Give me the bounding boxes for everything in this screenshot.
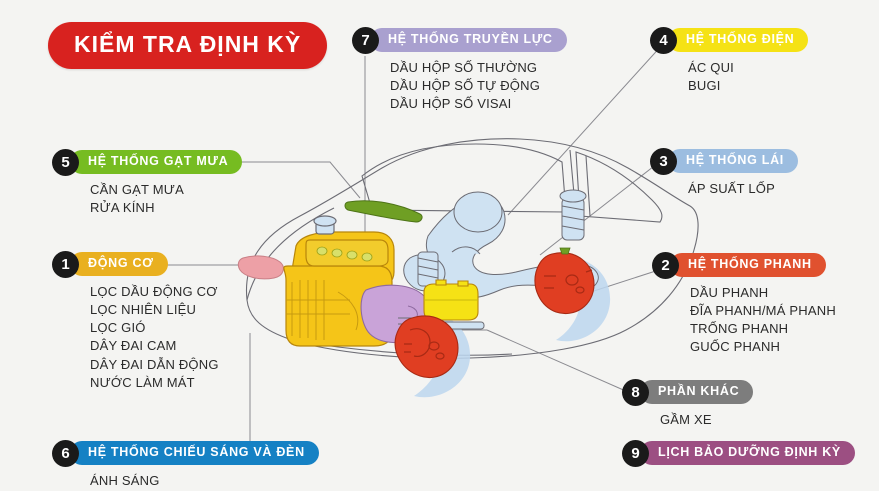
list-item: GẦM XE <box>660 410 753 428</box>
callout-head: 5 HỆ THỐNG GẠT MƯA <box>52 149 242 175</box>
callout-item-list: CẦN GẠT MƯA RỬA KÍNH <box>90 180 242 217</box>
callout-head: 1 ĐỘNG CƠ <box>52 251 219 277</box>
callout-number-badge: 2 <box>652 252 679 279</box>
callout-number-badge: 5 <box>52 149 79 176</box>
callout-item-list: ÁC QUI BUGI <box>688 58 808 95</box>
callout-label-pill[interactable]: HỆ THỐNG PHANH <box>670 253 826 276</box>
list-item: DÂY ĐAI CAM <box>90 337 219 355</box>
callout-item-list: DẦU PHANH ĐĨA PHANH/MÁ PHANH TRỐNG PHANH… <box>690 283 836 356</box>
list-item: DẦU PHANH <box>690 283 836 301</box>
callout-number-badge: 7 <box>352 27 379 54</box>
callout-label-pill[interactable]: HỆ THỐNG GẠT MƯA <box>70 150 242 173</box>
callout-9-maintenance-schedule[interactable]: 9 LỊCH BẢO DƯỠNG ĐỊNH KỲ <box>622 440 855 466</box>
callout-label-pill[interactable]: LỊCH BẢO DƯỠNG ĐỊNH KỲ <box>640 441 855 464</box>
list-item: BUGI <box>688 76 808 94</box>
list-item: ÁNH SÁNG <box>90 471 319 489</box>
callout-2-brakes[interactable]: 2 HỆ THỐNG PHANH DẦU PHANH ĐĨA PHANH/MÁ … <box>652 252 836 356</box>
callout-number-badge: 8 <box>622 379 649 406</box>
callout-label-pill[interactable]: PHẦN KHÁC <box>640 380 753 403</box>
list-item: DẦU HỘP SỐ TỰ ĐỘNG <box>390 76 567 94</box>
callout-head: 9 LỊCH BẢO DƯỠNG ĐỊNH KỲ <box>622 440 855 466</box>
callout-label-pill[interactable]: ĐỘNG CƠ <box>70 252 168 275</box>
list-item: NƯỚC LÀM MÁT <box>90 373 219 391</box>
infographic-canvas: KIỂM TRA ĐỊNH KỲ 7 HỆ THỐNG TRUYỀN LỰC D… <box>0 0 879 491</box>
list-item: DẦU HỘP SỐ THƯỜNG <box>390 58 567 76</box>
callout-item-list: GẦM XE <box>660 410 753 428</box>
callout-head: 2 HỆ THỐNG PHANH <box>652 252 836 278</box>
callout-8-other[interactable]: 8 PHẦN KHÁC GẦM XE <box>622 379 753 428</box>
callout-label-pill[interactable]: HỆ THỐNG TRUYỀN LỰC <box>370 28 567 51</box>
callout-3-steering[interactable]: 3 HỆ THỐNG LÁI ÁP SUẤT LỐP <box>650 148 798 197</box>
callout-number-badge: 9 <box>622 440 649 467</box>
list-item: ĐĨA PHANH/MÁ PHANH <box>690 301 836 319</box>
callout-label-pill[interactable]: HỆ THỐNG CHIẾU SÁNG VÀ ĐÈN <box>70 441 319 464</box>
list-item: LỌC DẦU ĐỘNG CƠ <box>90 282 219 300</box>
callout-number-badge: 1 <box>52 251 79 278</box>
list-item: LỌC GIÓ <box>90 319 219 337</box>
page-title: KIỂM TRA ĐỊNH KỲ <box>48 22 327 69</box>
list-item: GUỐC PHANH <box>690 338 836 356</box>
callout-head: 8 PHẦN KHÁC <box>622 379 753 405</box>
callout-number-badge: 6 <box>52 440 79 467</box>
callout-4-electrical[interactable]: 4 HỆ THỐNG ĐIỆN ÁC QUI BUGI <box>650 27 808 95</box>
callout-item-list: LỌC DẦU ĐỘNG CƠ LỌC NHIÊN LIỆU LỌC GIÓ D… <box>90 282 219 392</box>
callout-head: 4 HỆ THỐNG ĐIỆN <box>650 27 808 53</box>
list-item: ÁP SUẤT LỐP <box>688 179 798 197</box>
callout-6-lighting[interactable]: 6 HỆ THỐNG CHIẾU SÁNG VÀ ĐÈN ÁNH SÁNG <box>52 440 319 489</box>
callout-label-pill[interactable]: HỆ THỐNG LÁI <box>668 149 798 172</box>
list-item: TRỐNG PHANH <box>690 320 836 338</box>
list-item: DẦU HỘP SỐ VISAI <box>390 95 567 113</box>
callout-item-list: ÁNH SÁNG <box>90 471 319 489</box>
callout-7-transmission[interactable]: 7 HỆ THỐNG TRUYỀN LỰC DẦU HỘP SỐ THƯỜNG … <box>352 27 567 113</box>
list-item: DÂY ĐAI DẪN ĐỘNG <box>90 355 219 373</box>
callout-head: 6 HỆ THỐNG CHIẾU SÁNG VÀ ĐÈN <box>52 440 319 466</box>
callout-number-badge: 3 <box>650 148 677 175</box>
list-item: LỌC NHIÊN LIỆU <box>90 300 219 318</box>
callout-number-badge: 4 <box>650 27 677 54</box>
callout-5-wiper[interactable]: 5 HỆ THỐNG GẠT MƯA CẦN GẠT MƯA RỬA KÍNH <box>52 149 242 217</box>
list-item: RỬA KÍNH <box>90 198 242 216</box>
callout-head: 7 HỆ THỐNG TRUYỀN LỰC <box>352 27 567 53</box>
callout-label-pill[interactable]: HỆ THỐNG ĐIỆN <box>668 28 808 51</box>
callout-head: 3 HỆ THỐNG LÁI <box>650 148 798 174</box>
callout-1-engine[interactable]: 1 ĐỘNG CƠ LỌC DẦU ĐỘNG CƠ LỌC NHIÊN LIỆU… <box>52 251 219 392</box>
list-item: ÁC QUI <box>688 58 808 76</box>
callout-item-list: ÁP SUẤT LỐP <box>688 179 798 197</box>
callout-item-list: DẦU HỘP SỐ THƯỜNG DẦU HỘP SỐ TỰ ĐỘNG DẦU… <box>390 58 567 113</box>
list-item: CẦN GẠT MƯA <box>90 180 242 198</box>
